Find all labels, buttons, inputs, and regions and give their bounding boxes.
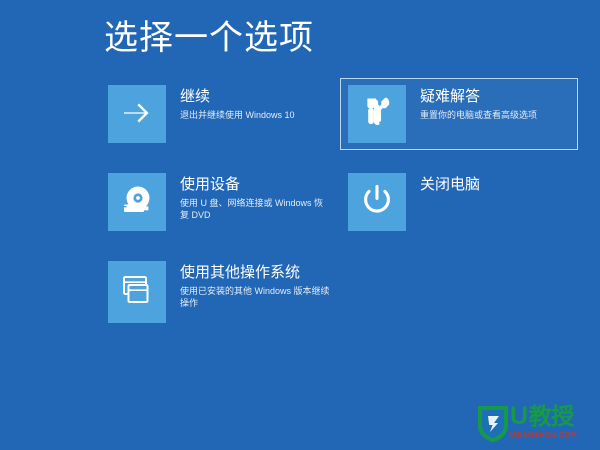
windows-stack-icon [119, 273, 155, 312]
option-subtitle: 退出并继续使用 Windows 10 [180, 109, 295, 121]
options-left-column: 继续 退出并继续使用 Windows 10 [100, 78, 330, 346]
wrench-screwdriver-icon [360, 94, 394, 135]
option-labels: 使用其他操作系统 使用已安装的其他 Windows 版本继续操作 [166, 261, 330, 309]
shield-logo [476, 402, 510, 449]
option-title: 使用其他操作系统 [180, 263, 330, 282]
arrow-right-icon [120, 95, 154, 134]
option-use-another-operating-system[interactable]: 使用其他操作系统 使用已安装的其他 Windows 版本继续操作 [100, 254, 338, 330]
disc-usb-device-icon [119, 183, 155, 222]
option-icon-tile [348, 173, 406, 231]
recovery-options-screen: 选择一个选项 继续 退出并继续使用 Windows 10 [0, 0, 600, 450]
power-icon [360, 183, 394, 222]
page-title: 选择一个选项 [104, 18, 314, 58]
option-icon-tile [108, 261, 166, 323]
option-labels: 关闭电脑 [406, 173, 480, 197]
option-title: 继续 [180, 87, 295, 106]
option-icon-tile [108, 85, 166, 143]
option-continue[interactable]: 继续 退出并继续使用 Windows 10 [100, 78, 338, 150]
option-icon-tile [108, 173, 166, 231]
option-subtitle: 使用已安装的其他 Windows 版本继续操作 [180, 285, 330, 309]
option-troubleshoot[interactable]: 疑难解答 重置你的电脑或查看高级选项 [340, 78, 578, 150]
option-title: 关闭电脑 [420, 175, 480, 194]
watermark-brand-cn: 教授 [529, 403, 574, 429]
watermark-domain: UJIAOSHOU.COM [510, 430, 596, 439]
option-subtitle: 使用 U 盘、网络连接或 Windows 恢复 DVD [180, 197, 330, 221]
watermark-brand: U 教授 [510, 403, 596, 429]
option-subtitle: 重置你的电脑或查看高级选项 [420, 109, 537, 121]
watermark: U 教授 UJIAOSHOU.COM [476, 402, 594, 446]
option-turn-off-your-pc[interactable]: 关闭电脑 [340, 166, 578, 238]
option-use-a-device[interactable]: 使用设备 使用 U 盘、网络连接或 Windows 恢复 DVD [100, 166, 338, 238]
option-title: 使用设备 [180, 175, 330, 194]
options-right-column: 疑难解答 重置你的电脑或查看高级选项 关闭电脑 [340, 78, 585, 254]
option-labels: 疑难解答 重置你的电脑或查看高级选项 [406, 85, 537, 121]
option-labels: 使用设备 使用 U 盘、网络连接或 Windows 恢复 DVD [166, 173, 330, 221]
watermark-text: U 教授 UJIAOSHOU.COM [510, 403, 596, 439]
option-icon-tile [348, 85, 406, 143]
option-labels: 继续 退出并继续使用 Windows 10 [166, 85, 295, 121]
option-title: 疑难解答 [420, 87, 537, 106]
watermark-brand-u: U [510, 403, 528, 429]
